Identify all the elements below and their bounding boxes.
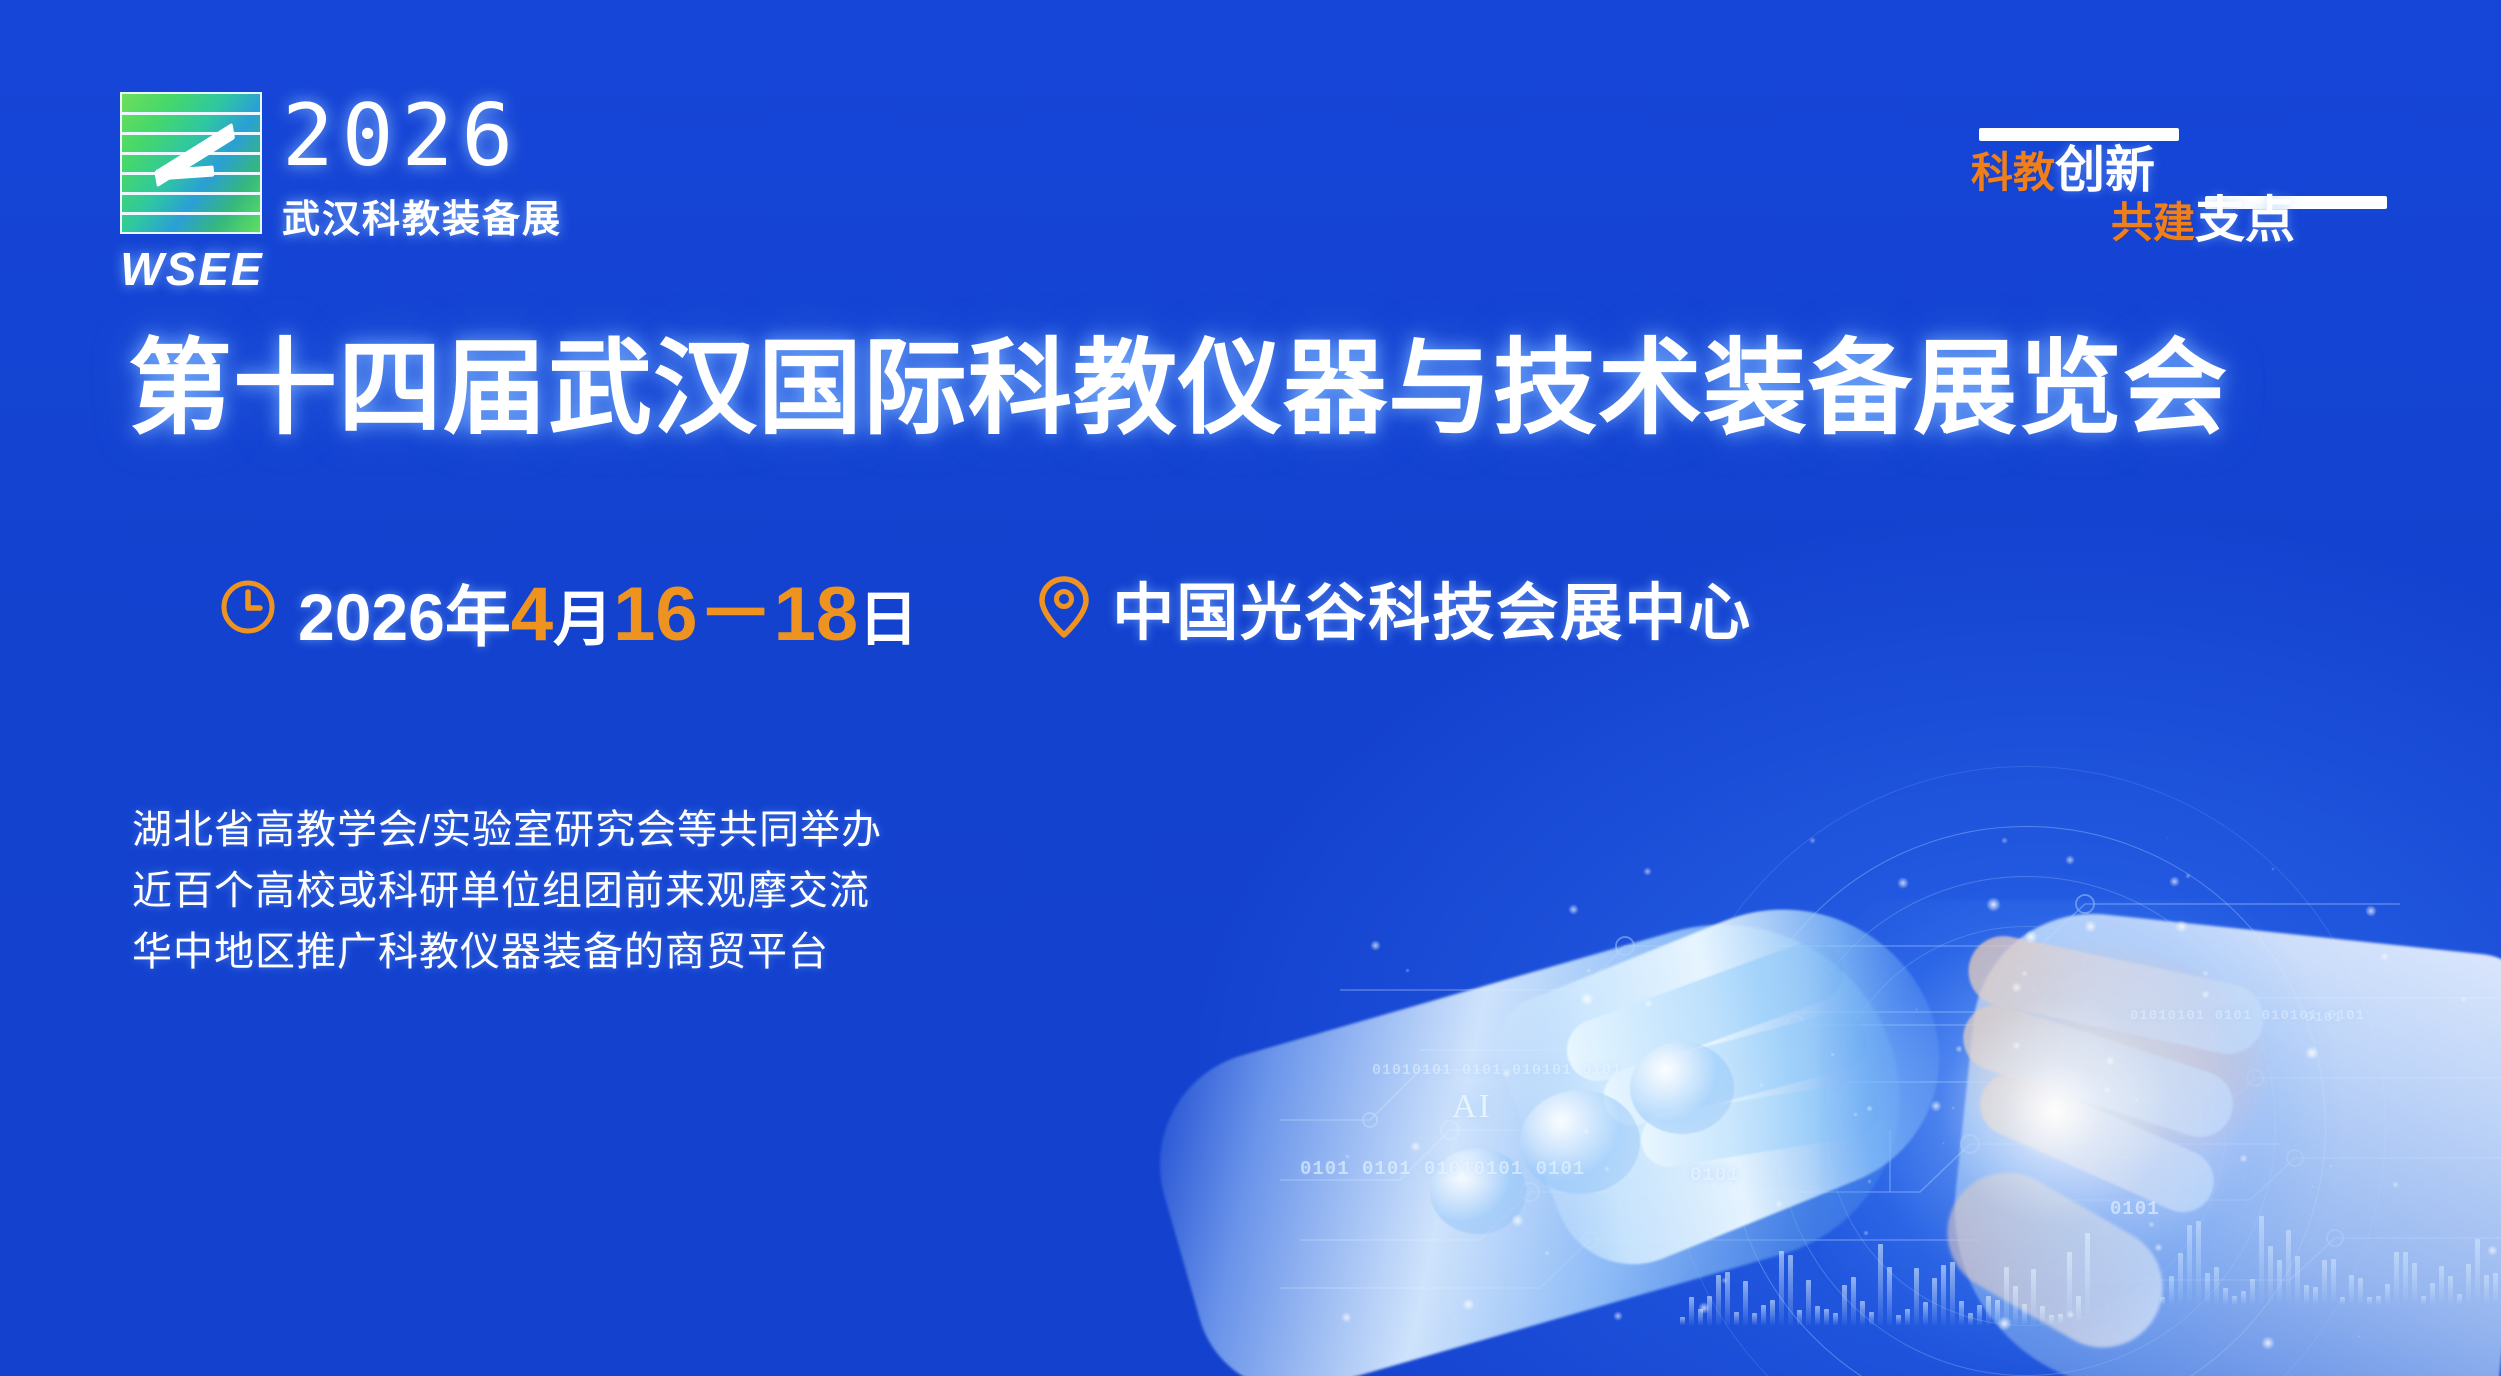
list-item: 近百个高校或科研单位组团前来观摩交流 (132, 861, 882, 922)
logo-year: 2026 (282, 96, 562, 178)
highlight-list: 湖北省高教学会/实验室研究会等共同举办 近百个高校或科研单位组团前来观摩交流 华… (132, 800, 882, 982)
binary-string: 0101 0101 01010101 0101 (1300, 1158, 1585, 1180)
list-item: 华中地区推广科教仪器装备的商贸平台 (132, 922, 882, 983)
robot-knuckle-3 (1430, 1148, 1526, 1234)
binary-string: 0101 (2110, 1198, 2160, 1220)
binary-string: 0101 (2305, 1010, 2343, 1026)
event-venue: 中国光谷科技会展中心 (1038, 562, 1752, 652)
date-month-unit: 月 (553, 571, 613, 658)
tech-ring-2 (1776, 876, 2276, 1376)
circuit-trace-left-icon (1280, 820, 2501, 1300)
event-date: 2026年 4 月 16－18 日 (220, 552, 918, 662)
logo-text-block: 2026 武汉科教装备展 (282, 92, 562, 243)
human-hand-shape (1937, 902, 2501, 1376)
page-title: 第十四届武汉国际科教仪器与技术装备展览会 (128, 333, 2378, 445)
list-item: 湖北省高教学会/实验室研究会等共同举办 (132, 800, 882, 861)
human-finger-3 (1970, 1064, 2224, 1222)
slogan-line2-white: 支点 (2195, 180, 2295, 252)
human-thumb-shape (1925, 1151, 2184, 1370)
robot-fingers-shape (1481, 862, 1979, 1288)
circuit-trace-right-icon (2050, 980, 2501, 1310)
robot-arm-shape (1133, 883, 1938, 1376)
human-finger-1 (1962, 930, 2270, 1061)
binary-string: 01010101 0101 010101 0101 (1372, 1062, 1622, 1079)
tech-ring-outer (1666, 766, 2386, 1376)
warm-glow (1980, 960, 2280, 1240)
event-info-row: 2026年 4 月 16－18 日 中国光谷科技会展中心 (220, 552, 1752, 662)
binary-string: 0101 (1690, 1164, 1740, 1186)
robot-knuckle-2 (1630, 1042, 1734, 1134)
waveform-bars-right (2160, 1205, 2498, 1305)
waveform-bars-left (1680, 1215, 2090, 1325)
robot-finger-2 (1597, 1006, 1873, 1132)
human-finger-2 (1955, 996, 2242, 1145)
slogan-line1-orange: 科教 (1971, 139, 2055, 200)
date-day-range: 16－18 (613, 552, 858, 662)
location-pin-icon (1038, 575, 1090, 639)
slogan-line-2: 共建 支点 (2111, 180, 2295, 252)
date-text: 2026年 4 月 16－18 日 (298, 552, 918, 662)
logo-mark: WSEE (120, 92, 264, 296)
tech-ring-1 (1726, 826, 2326, 1376)
slogan-line2-orange: 共建 (2111, 189, 2195, 250)
date-year: 2026年 (298, 564, 511, 660)
logo-wordmark: WSEE (120, 242, 264, 296)
robot-finger-3 (1637, 1080, 1882, 1171)
robot-finger-1 (1558, 932, 1852, 1089)
binary-string: 01010101 0101 010101 0101 (2130, 1008, 2365, 1024)
date-month-number: 4 (511, 571, 553, 658)
touch-point-glow (1820, 900, 2380, 1376)
robot-knuckle-1 (1520, 1090, 1640, 1194)
venue-name: 中国光谷科技会展中心 (1112, 562, 1752, 652)
tech-ring-3 (1826, 926, 2226, 1326)
ai-label: AI (1452, 1088, 1492, 1126)
wsee-logo[interactable]: WSEE 2026 武汉科教装备展 (120, 92, 562, 296)
logo-subtitle: 武汉科教装备展 (282, 188, 562, 243)
wsee-gradient-square-icon (120, 92, 262, 234)
exhibition-poster: 01010101 0101 010101 0101 0101 0101 0101… (0, 0, 2501, 1376)
campaign-slogan: 科教 创新 共建 支点 (1961, 118, 2381, 228)
date-day-unit: 日 (858, 571, 918, 658)
clock-icon (220, 579, 276, 635)
